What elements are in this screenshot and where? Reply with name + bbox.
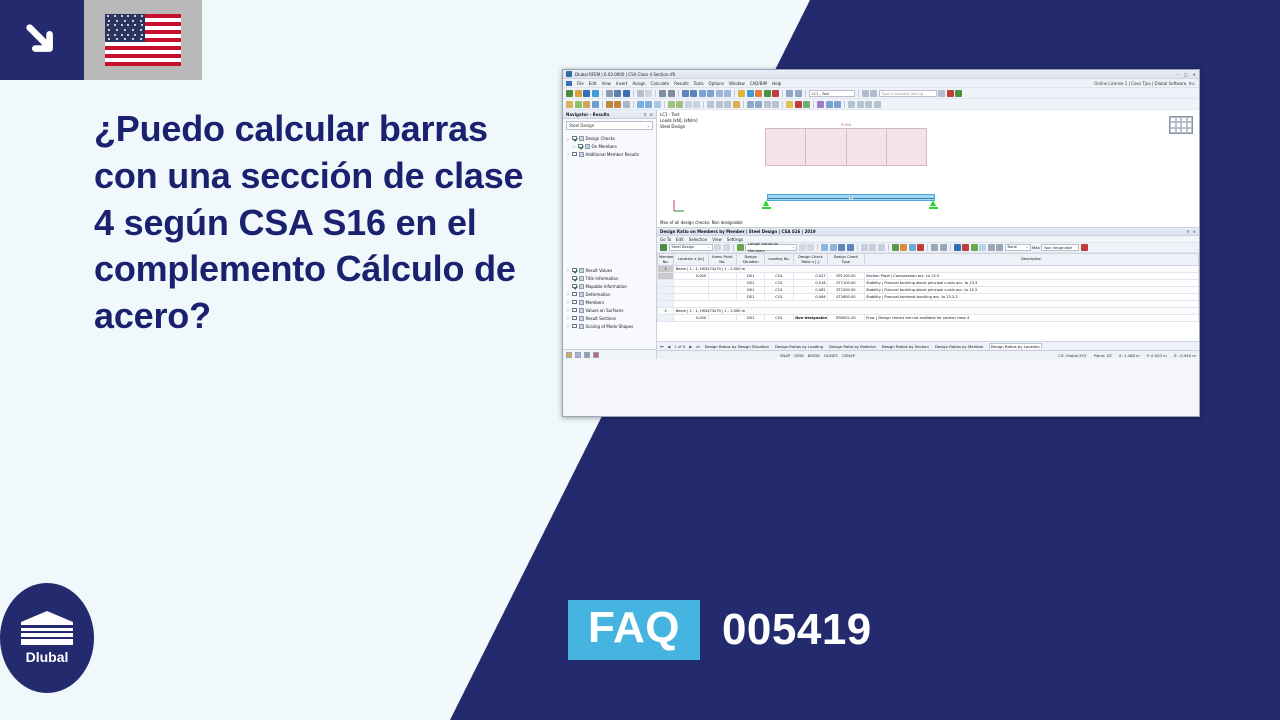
results-table-title-bar: Design Ratio on Members by Member | Stee… <box>657 228 1199 236</box>
node-icon <box>579 268 584 273</box>
toolbar2-icon-2[interactable] <box>575 101 582 108</box>
node-icon <box>579 136 584 141</box>
expander-icon[interactable]: ⌄ <box>566 136 570 141</box>
menu-item-results[interactable]: Results <box>674 81 688 86</box>
expander-icon[interactable]: › <box>572 144 576 149</box>
toolbar2-icon-11[interactable] <box>668 101 675 108</box>
pin-icon[interactable]: ⚲ <box>1187 229 1190 234</box>
support-right-2 <box>929 200 938 209</box>
brand-name: Dlubal <box>26 649 69 665</box>
toolbar2-icon-15[interactable] <box>707 101 714 108</box>
col-design-situation: Design Situation <box>737 254 765 266</box>
expander-icon[interactable]: › <box>566 308 570 313</box>
app-title: Dlubal RFEM | 6.03.0000 | CSA Class 4 Se… <box>575 72 675 77</box>
table-header-row: Member No. Location x [m] Items Point No… <box>658 254 1199 266</box>
status-glines[interactable]: GLINES <box>824 353 838 358</box>
group-header-label: Beam | 1 - 1, HSS473x79 | 1 - 1.000 m <box>674 266 1199 273</box>
toolbar-icon-calc-1[interactable] <box>738 90 745 97</box>
menu-item-calculate[interactable]: Calculate <box>651 81 670 86</box>
close-icon[interactable]: ✕ <box>650 112 653 117</box>
cell-description: Section Proof | Compression acc. to 13.3 <box>864 273 1198 280</box>
expander-icon[interactable]: › <box>566 316 570 321</box>
arrow-down-right-glyph <box>23 21 61 59</box>
table-icon-pdf[interactable] <box>917 244 924 251</box>
spacer-cell <box>674 301 1199 308</box>
cell-design-situation: DS1 <box>737 280 765 287</box>
toolbar2-icon-24[interactable] <box>795 101 802 108</box>
tree-item-deformation[interactable]: › Deformation <box>566 290 653 298</box>
cell-item <box>708 294 736 301</box>
cell-location: 0.000 <box>674 273 708 280</box>
table-icon-error[interactable] <box>1081 244 1088 251</box>
tree-item-label: Mapable Information <box>586 284 627 289</box>
toolbar2-icon-5[interactable] <box>606 101 613 108</box>
pager-first-icon[interactable]: ⏮ <box>660 344 663 349</box>
menu-item-options[interactable]: Options <box>709 81 724 86</box>
toolbar-icon-misc-5[interactable] <box>955 90 962 97</box>
table-row[interactable]: 0.000 DS1 CO1 Non-designable ER9001.00 E… <box>658 315 1199 322</box>
table-row[interactable]: DS1 CO1 0.062 ST1200.00 Stability | Flex… <box>658 287 1199 294</box>
toolbar-icon-misc-1[interactable] <box>862 90 869 97</box>
model-beam-2-group[interactable]: 2 <box>757 194 957 214</box>
toolbar2-icon-25[interactable] <box>803 101 810 108</box>
toolbar-icon-open[interactable] <box>575 90 582 97</box>
expander-icon[interactable]: › <box>566 268 570 273</box>
tab-design-ratio-by-material[interactable]: Design Ratio by Material <box>828 344 877 349</box>
toolbar-icon-calc-5[interactable] <box>772 90 779 97</box>
toolbar2-icon-12[interactable] <box>676 101 683 108</box>
node-icon <box>585 144 590 149</box>
row-number <box>658 294 674 301</box>
table-icon-flag-5[interactable] <box>988 244 995 251</box>
tree-item-label: Result Values <box>586 268 613 273</box>
menu-item-edit[interactable]: Edit <box>589 81 597 86</box>
checkbox[interactable] <box>572 316 577 321</box>
table-icon-flag-4[interactable] <box>979 244 986 251</box>
tree-item-additional-member-results[interactable]: › Additional Member Results <box>566 150 653 158</box>
cell-ratio: 0.016 <box>793 280 827 287</box>
cell-item <box>708 280 736 287</box>
toolbar2-icon-18[interactable] <box>733 101 740 108</box>
table-icon-flag-3[interactable] <box>971 244 978 251</box>
tree-item-label: Title Information <box>586 276 619 281</box>
toolbar2-icon-9[interactable] <box>645 101 652 108</box>
flag-graphic <box>105 14 181 66</box>
node-icon <box>579 292 584 297</box>
cell-loading: CO1 <box>765 294 793 301</box>
table-category-label: Design Ratios on Members <box>748 243 792 253</box>
menu-item-view[interactable]: View <box>601 81 611 86</box>
toolbar2-icon-3[interactable] <box>583 101 590 108</box>
toolbar-icon-paste[interactable] <box>645 90 652 97</box>
results-table-toolbar[interactable]: Steel Design ⌄ Design Ratios on Members … <box>657 243 1199 253</box>
dlubal-logo: Dlubal <box>0 583 94 693</box>
model-beam-2[interactable]: 2 <box>767 194 935 201</box>
table-icon-filter[interactable] <box>838 244 845 251</box>
menu-item-window[interactable]: Window <box>729 81 745 86</box>
app-titlebar: Dlubal RFEM | 6.03.0000 | CSA Class 4 Se… <box>563 70 1199 79</box>
statusbar-flags[interactable]: SNAP GRID BGRID GLINES OSNAP <box>780 353 855 358</box>
tree-item-mapable-information[interactable]: Mapable Information <box>566 282 653 290</box>
maximize-icon[interactable]: □ <box>1184 72 1188 77</box>
status-plane: Plane: XZ <box>1094 353 1112 358</box>
table-icon-module[interactable] <box>660 244 667 251</box>
license-label: Online License 1 | Cosa Tjoa | Dlubal So… <box>1094 81 1196 86</box>
table-icon-find[interactable] <box>830 244 837 251</box>
toolbar-icon-print[interactable] <box>623 90 630 97</box>
minimize-icon[interactable]: – <box>1177 72 1179 77</box>
tree-item-label: Values on Surfaces <box>586 308 624 313</box>
node-icon <box>579 284 584 289</box>
cell-description: Stability | Flexural buckling about prin… <box>864 280 1198 287</box>
app-toolbar-primary[interactable]: LC1 - Test Type a keyword (alt+q) <box>563 88 1199 99</box>
tree-item-label: Members <box>586 300 605 305</box>
cell-ratio: 0.062 <box>793 287 827 294</box>
load-case-combo[interactable]: LC1 - Test <box>809 90 855 97</box>
row-number <box>658 280 674 287</box>
table-menu-goto[interactable]: Go To <box>660 237 671 242</box>
chevron-down-icon[interactable]: ⌄ <box>707 244 710 251</box>
toolbar2-icon-32[interactable] <box>874 101 881 108</box>
expander-icon[interactable]: › <box>566 292 570 297</box>
results-table-menubar[interactable]: Go To Edit Selection View Settings <box>657 236 1199 243</box>
navigator-panel: Navigator - Results ⚲ ✕ Steel Design ⌄ ⌄… <box>563 110 657 359</box>
table-icon-category[interactable] <box>737 244 744 251</box>
results-grid[interactable]: Member No. Location x [m] Items Point No… <box>657 253 1199 341</box>
menu-item-insert[interactable]: Insert <box>616 81 627 86</box>
col-design-ratio: Design Check Ratio η [-] <box>793 254 827 266</box>
model-surface[interactable]: 5.000 <box>765 128 927 166</box>
app-workarea: LC1 - Test Loads [kN], [kN/m] Steel Desi… <box>657 110 1199 359</box>
row-number <box>658 287 674 294</box>
pin-icon[interactable]: ⚲ <box>644 112 647 117</box>
col-location: Location x [m] <box>674 254 708 266</box>
toolbar2-icon-7[interactable] <box>623 101 630 108</box>
pager-last-icon[interactable]: ⏭ <box>696 344 699 349</box>
row-number: 2 <box>658 308 674 315</box>
row-number <box>658 301 674 308</box>
toolbar2-icon-6[interactable] <box>614 101 621 108</box>
window-controls[interactable]: – □ ✕ <box>1177 72 1196 77</box>
toolbar2-icon-20[interactable] <box>755 101 762 108</box>
tree-item-scaling-of-mode-shapes[interactable]: › Scaling of Mode Shapes <box>566 322 653 330</box>
navigator-icon-results[interactable] <box>593 352 599 358</box>
table-icon-grid-2[interactable] <box>869 244 876 251</box>
model-viewport[interactable]: LC1 - Test Loads [kN], [kN/m] Steel Desi… <box>657 110 1199 228</box>
table-group-row[interactable]: 1 Beam | 1 - 1, HSS473x79 | 1 - 1.000 m <box>658 266 1199 273</box>
toolbar2-icon-13[interactable] <box>685 101 692 108</box>
status-y: Y: 0.000 m <box>1147 353 1167 358</box>
checkbox[interactable] <box>572 136 577 141</box>
toolbar2-icon-29[interactable] <box>848 101 855 108</box>
node-icon <box>579 276 584 281</box>
results-table-panel: Design Ratio on Members by Member | Stee… <box>657 228 1199 350</box>
keyword-search-input[interactable]: Type a keyword (alt+q) <box>879 90 937 97</box>
toolbar-icon-redo[interactable] <box>668 90 675 97</box>
checkbox[interactable] <box>572 324 577 329</box>
checkbox[interactable] <box>572 284 577 289</box>
table-icon-export[interactable] <box>909 244 916 251</box>
toolbar2-icon-14[interactable] <box>693 101 700 108</box>
app-menubar[interactable]: File Edit View Insert Assign Calculate R… <box>563 79 1199 88</box>
tab-design-ratios-by-design-situation[interactable]: Design Ratios by Design Situation <box>704 344 770 349</box>
status-x: X: 1.488 m <box>1119 353 1140 358</box>
toolbar-icon-print-preview[interactable] <box>606 90 613 97</box>
toolbar-icon-undo[interactable] <box>659 90 666 97</box>
app-statusbar: SNAP GRID BGRID GLINES OSNAP CS: Global … <box>657 350 1199 359</box>
status-cs: CS: Global XYZ <box>1058 353 1086 358</box>
navigator-module-select[interactable]: Steel Design ⌄ <box>566 121 653 130</box>
tab-design-ratios-by-location[interactable]: Design Ratios by Location <box>989 343 1042 349</box>
results-table-tabs[interactable]: ⏮ ◀ 1 of 6 ▶ ⏭ Design Ratios by Design S… <box>657 341 1199 350</box>
toolbar-icon-calc-2[interactable] <box>747 90 754 97</box>
tree-item-values-on-surfaces[interactable]: › Values on Surfaces <box>566 306 653 314</box>
expander-icon[interactable]: › <box>566 300 570 305</box>
table-menu-edit[interactable]: Edit <box>676 237 684 242</box>
toolbar2-icon-21[interactable] <box>764 101 771 108</box>
toolbar2-icon-27[interactable] <box>826 101 833 108</box>
navigator-tree[interactable]: ⌄ Design Checks › On Members › Additiona… <box>563 132 656 349</box>
status-osnap[interactable]: OSNAP <box>842 353 855 358</box>
status-snap[interactable]: SNAP <box>780 353 790 358</box>
toolbar-icon-misc-2[interactable] <box>870 90 877 97</box>
node-icon <box>579 308 584 313</box>
cell-loading: CO1 <box>765 287 793 294</box>
cell-check-type: ST1600.00 <box>828 294 864 301</box>
table-filter-select[interactable]: None ⌄ <box>1005 244 1031 251</box>
toolbar2-icon-1[interactable] <box>566 101 573 108</box>
tree-item-result-values[interactable]: › Result Values <box>566 266 653 274</box>
table-max-value: Non designable <box>1041 244 1079 251</box>
row-number: 1 <box>658 266 674 273</box>
navigator-dock-controls[interactable]: ⚲ ✕ <box>644 112 653 117</box>
table-module-select[interactable]: Steel Design ⌄ <box>669 244 713 251</box>
expander-icon[interactable]: › <box>566 152 570 157</box>
toolbar2-icon-26[interactable] <box>817 101 824 108</box>
cell-design-situation: DS1 <box>737 273 765 280</box>
table-max-label: Max <box>1032 245 1040 250</box>
cell-item <box>708 273 736 280</box>
toolbar2-icon-4[interactable] <box>592 101 599 108</box>
toolbar-icon-calc-4[interactable] <box>764 90 771 97</box>
toolbar-icon-misc-4[interactable] <box>947 90 954 97</box>
toolbar2-icon-10[interactable] <box>654 101 661 108</box>
menu-item-tools[interactable]: Tools <box>694 81 704 86</box>
chevron-down-icon[interactable]: ⌄ <box>792 244 795 251</box>
checkbox[interactable] <box>572 276 577 281</box>
toolbar-icon-view-4[interactable] <box>707 90 714 97</box>
tree-item-label: Design Checks <box>586 136 615 141</box>
table-menu-selection[interactable]: Selection <box>689 237 707 242</box>
table-icon-flag-1[interactable] <box>954 244 961 251</box>
navigator-icon-render[interactable] <box>566 352 572 358</box>
toolbar2-icon-30[interactable] <box>857 101 864 108</box>
group-header-label: Beam | 1 - 1, HSS473x79 | 1 - 1.000 m <box>674 308 1199 315</box>
table-group-row[interactable]: 2 Beam | 1 - 1, HSS473x79 | 1 - 1.000 m <box>658 308 1199 315</box>
cell-loading: CO1 <box>765 280 793 287</box>
tab-design-ratios-by-loading[interactable]: Design Ratios by Loading <box>774 344 824 349</box>
table-icon-help[interactable] <box>940 244 947 251</box>
menu-app-icon <box>566 81 572 86</box>
arrow-down-right-icon <box>0 0 84 80</box>
toolbar2-icon-8[interactable] <box>637 101 644 108</box>
tree-item-label: Scaling of Mode Shapes <box>586 324 634 329</box>
checkbox[interactable] <box>572 292 577 297</box>
toolbar-icon-view-5[interactable] <box>716 90 723 97</box>
table-icon-prev[interactable] <box>714 244 721 251</box>
chevron-down-icon[interactable]: ⌄ <box>647 123 650 128</box>
tree-item-title-information[interactable]: Title Information <box>566 274 653 282</box>
col-design-check-type: Design Check Type <box>828 254 864 266</box>
toolbar-icon-saveas[interactable] <box>592 90 599 97</box>
table-icon-next-2[interactable] <box>807 244 814 251</box>
toolbar-icon-view-1[interactable] <box>682 90 689 97</box>
checkbox[interactable] <box>572 300 577 305</box>
results-table-title: Design Ratio on Members by Member | Stee… <box>660 229 816 234</box>
table-menu-settings[interactable]: Settings <box>727 237 743 242</box>
results-grid-table: Member No. Location x [m] Items Point No… <box>657 253 1199 322</box>
toolbar-icon-printout[interactable] <box>614 90 621 97</box>
table-row[interactable]: 0.000 DS1 CO1 0.027 SP1100.00 Section Pr… <box>658 273 1199 280</box>
table-row[interactable]: DS1 CO1 0.084 ST1600.00 Stability | Flex… <box>658 294 1199 301</box>
toolbar2-icon-28[interactable] <box>834 101 841 108</box>
statusbar-coords: CS: Global XYZ Plane: XZ X: 1.488 m Y: 0… <box>1058 353 1196 358</box>
toolbar2-icon-22[interactable] <box>772 101 779 108</box>
cell-ratio: Non-designable <box>793 315 827 322</box>
checkbox[interactable] <box>578 144 583 149</box>
table-filter-label: None <box>1008 244 1017 251</box>
toolbar2-icon-23[interactable] <box>786 101 793 108</box>
max-design-check-note: Max of all design checks: Non designable <box>660 220 743 225</box>
checkbox[interactable] <box>572 152 577 157</box>
node-icon <box>579 324 584 329</box>
menu-item-help[interactable]: Help <box>772 81 781 86</box>
toolbar-icon-doc-2[interactable] <box>795 90 802 97</box>
faq-label: FAQ <box>568 600 700 660</box>
cell-ratio: 0.027 <box>793 273 827 280</box>
col-member-no: Member No. <box>658 254 674 266</box>
table-icon-grid-3[interactable] <box>878 244 885 251</box>
cell-ratio: 0.084 <box>793 294 827 301</box>
tree-item-label: On Members <box>592 144 618 149</box>
toolbar2-icon-17[interactable] <box>724 101 731 108</box>
table-grid-icon[interactable] <box>1169 116 1193 134</box>
cell-description: Error | Design checks are not available … <box>864 315 1198 322</box>
table-icon-grid-1[interactable] <box>861 244 868 251</box>
toolbar2-icon-19[interactable] <box>747 101 754 108</box>
cell-design-situation: DS1 <box>737 287 765 294</box>
tab-design-ratios-by-section[interactable]: Design Ratios by Section <box>881 344 930 349</box>
cell-item <box>708 315 736 322</box>
top-badges <box>0 0 202 80</box>
toolbar-icon-misc-3[interactable] <box>938 90 945 97</box>
table-icon-sort[interactable] <box>847 244 854 251</box>
navigator-footer[interactable] <box>563 349 656 359</box>
cell-loading: CO1 <box>765 273 793 280</box>
toolbar-icon-new[interactable] <box>566 90 573 97</box>
toolbar-icon-view-3[interactable] <box>699 90 706 97</box>
tree-item-on-members[interactable]: › On Members <box>566 142 653 150</box>
checkbox[interactable] <box>572 308 577 313</box>
row-number <box>658 315 674 322</box>
close-icon[interactable]: ✕ <box>1193 72 1196 77</box>
table-icon-flag-6[interactable] <box>996 244 1003 251</box>
toolbar2-icon-31[interactable] <box>865 101 872 108</box>
cell-location <box>674 294 708 301</box>
faq-number: 005419 <box>722 605 872 655</box>
page-title: ¿Puedo calcular barras con una sección d… <box>94 106 524 340</box>
table-icon-zoom[interactable] <box>821 244 828 251</box>
pager-next-icon[interactable]: ▶ <box>689 344 692 349</box>
table-row[interactable]: DS1 CO1 0.016 ST1100.00 Stability | Flex… <box>658 280 1199 287</box>
viewport-module-label: Steel Design <box>660 124 698 130</box>
expander-icon[interactable]: › <box>566 324 570 329</box>
toolbar-icon-copy[interactable] <box>637 90 644 97</box>
results-table-dock-controls[interactable]: ⚲ ✕ <box>1187 229 1196 234</box>
toolbar-icon-view-6[interactable] <box>724 90 731 97</box>
faq-footer: FAQ 005419 <box>568 600 872 660</box>
flag-canton <box>105 14 145 42</box>
status-bgrid[interactable]: BGRID <box>808 353 820 358</box>
menu-item-assign[interactable]: Assign <box>632 81 645 86</box>
cell-description: Stability | Flexural buckling about prin… <box>864 287 1198 294</box>
close-icon[interactable]: ✕ <box>1193 229 1196 234</box>
table-icon-flag-2[interactable] <box>962 244 969 251</box>
navigator-header: Navigator - Results ⚲ ✕ <box>563 110 656 119</box>
dlubal-bridge-icon <box>21 611 73 645</box>
menu-item-cadbim[interactable]: CAD/BIM <box>750 81 767 86</box>
tree-item-members[interactable]: › Members <box>566 298 653 306</box>
tree-item-result-sections[interactable]: › Result Sections <box>566 314 653 322</box>
table-icon-settings[interactable] <box>931 244 938 251</box>
tree-item-label: Additional Member Results <box>586 152 640 157</box>
table-category-select[interactable]: Design Ratios on Members ⌄ <box>745 244 797 251</box>
navigator-icon-display[interactable] <box>584 352 590 358</box>
tree-item-design-checks[interactable]: ⌄ Design Checks <box>566 134 653 142</box>
cell-loading: CO1 <box>765 315 793 322</box>
cell-check-type: ST1200.00 <box>828 287 864 294</box>
toolbar-icon-calc-3[interactable] <box>755 90 762 97</box>
checkbox[interactable] <box>572 268 577 273</box>
tab-design-ratios-by-member[interactable]: Design Ratios by Member <box>934 344 985 349</box>
toolbar-icon-view-2[interactable] <box>690 90 697 97</box>
status-grid[interactable]: GRID <box>794 353 804 358</box>
menu-item-file[interactable]: File <box>577 81 584 86</box>
table-icon-excel[interactable] <box>892 244 899 251</box>
col-loading-no: Loading No. <box>765 254 793 266</box>
toolbar2-icon-16[interactable] <box>716 101 723 108</box>
cell-item <box>708 287 736 294</box>
table-icon-next[interactable] <box>723 244 730 251</box>
toolbar-icon-save[interactable] <box>583 90 590 97</box>
pager-prev-icon[interactable]: ◀ <box>667 344 670 349</box>
license-info: Online License 1 | Cosa Tjoa | Dlubal So… <box>1094 81 1196 86</box>
table-menu-view[interactable]: View <box>712 237 722 242</box>
viewport-labels: LC1 - Test Loads [kN], [kN/m] Steel Desi… <box>660 112 698 130</box>
navigator-module-label: Steel Design <box>569 123 594 128</box>
pager-label: 1 of 6 <box>674 344 685 349</box>
node-icon <box>579 300 584 305</box>
table-icon-print[interactable] <box>900 244 907 251</box>
node-icon <box>579 152 584 157</box>
global-axis-icon <box>671 197 687 213</box>
table-icon-prev-2[interactable] <box>799 244 806 251</box>
navigator-icon-visibility[interactable] <box>575 352 581 358</box>
toolbar-icon-doc-1[interactable] <box>786 90 793 97</box>
cell-design-situation: DS1 <box>737 315 765 322</box>
chevron-down-icon[interactable]: ⌄ <box>1025 244 1028 251</box>
app-toolbar-secondary[interactable] <box>563 99 1199 110</box>
